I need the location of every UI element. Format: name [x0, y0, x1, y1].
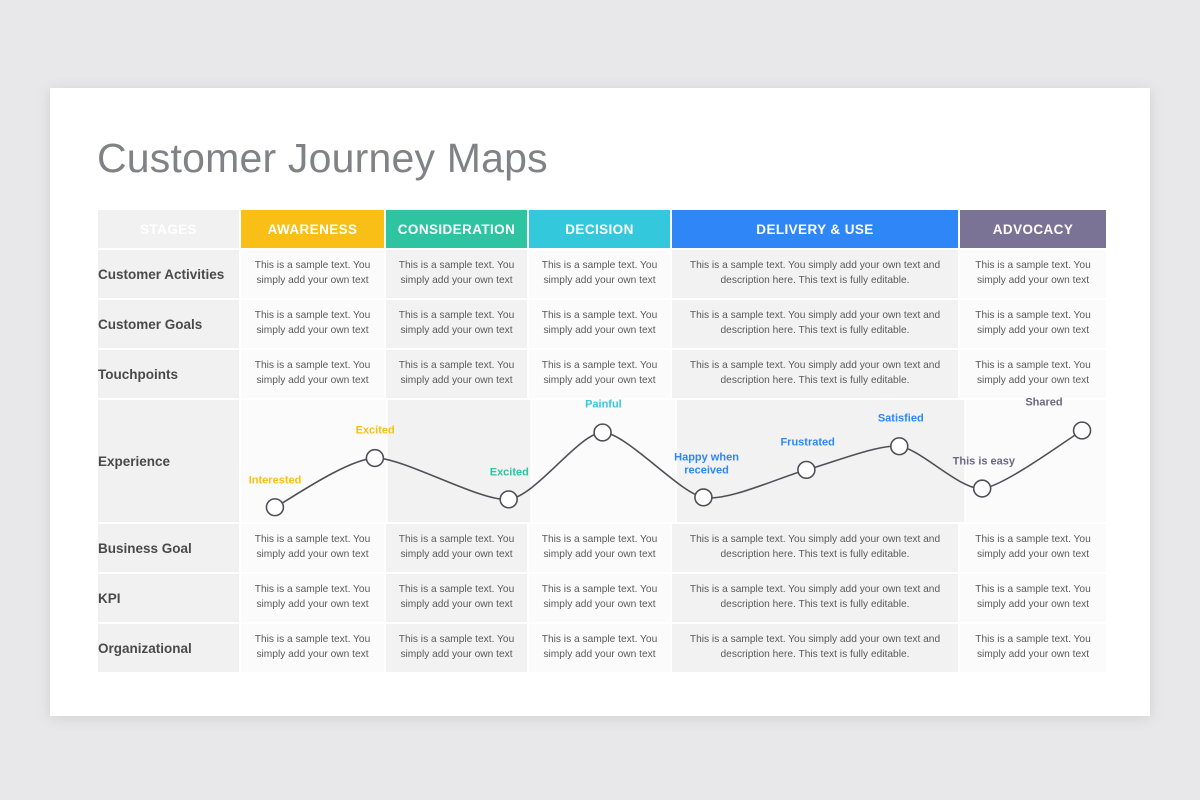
row-label-business-goal: Business Goal: [97, 523, 240, 573]
cell-awareness[interactable]: This is a sample text. You simply add yo…: [240, 573, 385, 623]
cell-decision[interactable]: This is a sample text. You simply add yo…: [528, 573, 671, 623]
experience-point-label: Excited: [490, 466, 529, 479]
cell-decision[interactable]: This is a sample text. You simply add yo…: [528, 249, 671, 299]
cell-delivery_use[interactable]: This is a sample text. You simply add yo…: [671, 573, 959, 623]
experience-column-band: [241, 400, 386, 522]
cell-decision[interactable]: This is a sample text. You simply add yo…: [528, 349, 671, 399]
customer-journey-table: STAGES AWARENESSCONSIDERATIONDECISIONDEL…: [96, 208, 1108, 674]
experience-point-marker[interactable]: [891, 438, 908, 455]
row-label-kpi: KPI: [97, 573, 240, 623]
stage-header-advocacy[interactable]: ADVOCACY: [959, 209, 1107, 249]
experience-point-marker[interactable]: [974, 480, 991, 497]
row-label-experience: Experience: [97, 399, 240, 523]
experience-point-marker[interactable]: [594, 424, 611, 441]
row-label-organizational: Organizational: [97, 623, 240, 673]
table-row: ExperienceInterestedExcitedExcitedPainfu…: [97, 399, 1107, 523]
cell-awareness[interactable]: This is a sample text. You simply add yo…: [240, 349, 385, 399]
experience-point-label: Satisfied: [878, 412, 924, 425]
cell-awareness[interactable]: This is a sample text. You simply add yo…: [240, 299, 385, 349]
cell-delivery_use[interactable]: This is a sample text. You simply add yo…: [671, 249, 959, 299]
row-label-customer-goals: Customer Goals: [97, 299, 240, 349]
row-label-customer-activities: Customer Activities: [97, 249, 240, 299]
cell-awareness[interactable]: This is a sample text. You simply add yo…: [240, 623, 385, 673]
cell-delivery_use[interactable]: This is a sample text. You simply add yo…: [671, 523, 959, 573]
cell-advocacy[interactable]: This is a sample text. You simply add yo…: [959, 523, 1107, 573]
experience-point-marker[interactable]: [266, 499, 283, 516]
experience-point-label: Shared: [1025, 396, 1062, 409]
table-row: Business GoalThis is a sample text. You …: [97, 523, 1107, 573]
cell-awareness[interactable]: This is a sample text. You simply add yo…: [240, 249, 385, 299]
experience-point-label: This is easy: [953, 455, 1015, 468]
stage-header-label: DECISION: [565, 222, 633, 237]
table-row: TouchpointsThis is a sample text. You si…: [97, 349, 1107, 399]
stages-header-cell: STAGES: [97, 209, 240, 249]
cell-advocacy[interactable]: This is a sample text. You simply add yo…: [959, 299, 1107, 349]
table-row: Customer ActivitiesThis is a sample text…: [97, 249, 1107, 299]
cell-delivery_use[interactable]: This is a sample text. You simply add yo…: [671, 349, 959, 399]
experience-curve-chart: InterestedExcitedExcitedPainfulHappy whe…: [241, 400, 1106, 522]
stage-header-label: CONSIDERATION: [398, 222, 515, 237]
cell-decision[interactable]: This is a sample text. You simply add yo…: [528, 523, 671, 573]
cell-consideration[interactable]: This is a sample text. You simply add yo…: [385, 623, 528, 673]
experience-point-label: Happy whenreceived: [674, 452, 739, 477]
table-body: Customer ActivitiesThis is a sample text…: [97, 249, 1107, 673]
stage-header-row: STAGES AWARENESSCONSIDERATIONDECISIONDEL…: [97, 209, 1107, 249]
experience-point-label: Excited: [356, 424, 395, 437]
experience-point-marker[interactable]: [500, 491, 517, 508]
page-title: Customer Journey Maps: [97, 135, 548, 182]
experience-point-label: Frustrated: [780, 436, 834, 449]
experience-chart-cell: InterestedExcitedExcitedPainfulHappy whe…: [240, 399, 1107, 523]
cell-consideration[interactable]: This is a sample text. You simply add yo…: [385, 523, 528, 573]
table-row: OrganizationalThis is a sample text. You…: [97, 623, 1107, 673]
experience-point-label: Interested: [249, 474, 302, 487]
table-row: Customer GoalsThis is a sample text. You…: [97, 299, 1107, 349]
row-label-touchpoints: Touchpoints: [97, 349, 240, 399]
cell-consideration[interactable]: This is a sample text. You simply add yo…: [385, 299, 528, 349]
cell-decision[interactable]: This is a sample text. You simply add yo…: [528, 623, 671, 673]
stage-header-awareness[interactable]: AWARENESS: [240, 209, 385, 249]
cell-delivery_use[interactable]: This is a sample text. You simply add yo…: [671, 623, 959, 673]
experience-point-marker[interactable]: [695, 489, 712, 506]
cell-decision[interactable]: This is a sample text. You simply add yo…: [528, 299, 671, 349]
cell-consideration[interactable]: This is a sample text. You simply add yo…: [385, 249, 528, 299]
cell-advocacy[interactable]: This is a sample text. You simply add yo…: [959, 349, 1107, 399]
cell-advocacy[interactable]: This is a sample text. You simply add yo…: [959, 573, 1107, 623]
stage-header-label: DELIVERY & USE: [756, 222, 873, 237]
stage-header-delivery_use[interactable]: DELIVERY & USE: [671, 209, 959, 249]
stage-header-label: AWARENESS: [268, 222, 358, 237]
stage-header-label: ADVOCACY: [993, 222, 1073, 237]
experience-point-marker[interactable]: [366, 450, 383, 467]
slide-card: Customer Journey Maps STAGES AWARENESSCO…: [50, 88, 1150, 716]
cell-delivery_use[interactable]: This is a sample text. You simply add yo…: [671, 299, 959, 349]
experience-point-marker[interactable]: [1074, 422, 1091, 439]
experience-point-marker[interactable]: [798, 461, 815, 478]
table-row: KPIThis is a sample text. You simply add…: [97, 573, 1107, 623]
stage-header-consideration[interactable]: CONSIDERATION: [385, 209, 528, 249]
cell-advocacy[interactable]: This is a sample text. You simply add yo…: [959, 623, 1107, 673]
cell-consideration[interactable]: This is a sample text. You simply add yo…: [385, 573, 528, 623]
cell-awareness[interactable]: This is a sample text. You simply add yo…: [240, 523, 385, 573]
cell-advocacy[interactable]: This is a sample text. You simply add yo…: [959, 249, 1107, 299]
cell-consideration[interactable]: This is a sample text. You simply add yo…: [385, 349, 528, 399]
stage-header-decision[interactable]: DECISION: [528, 209, 671, 249]
experience-column-band: [532, 400, 675, 522]
table-header: STAGES AWARENESSCONSIDERATIONDECISIONDEL…: [97, 209, 1107, 249]
experience-point-label: Painful: [585, 398, 622, 411]
